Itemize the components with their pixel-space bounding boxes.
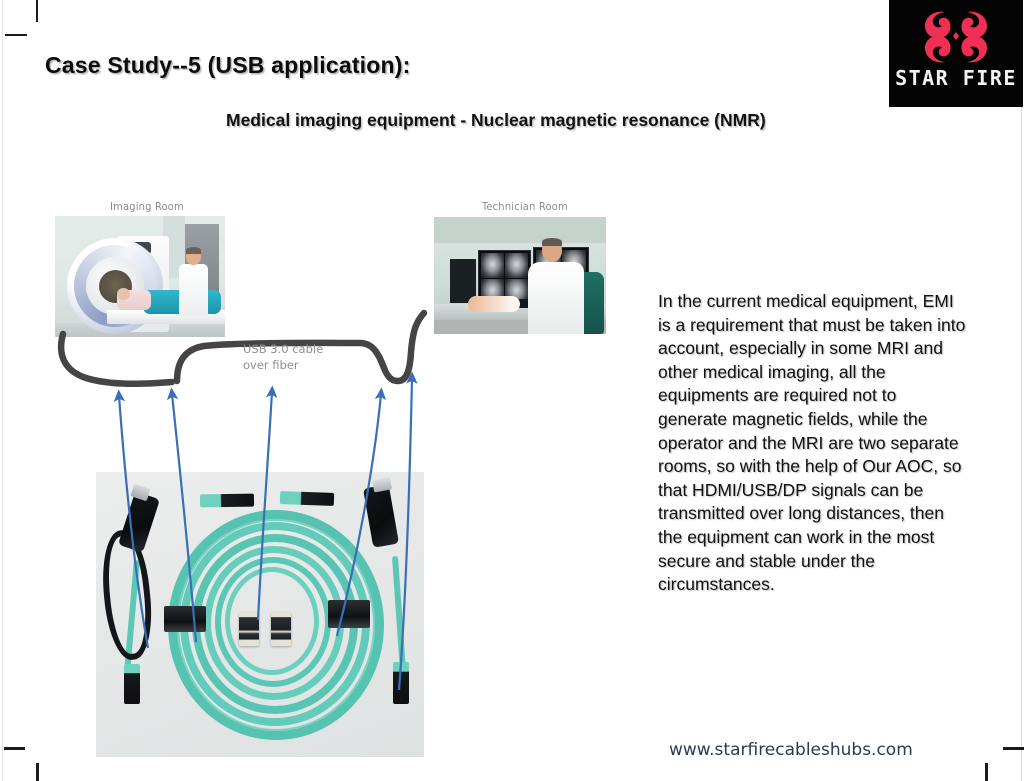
crop-mark-bottom-right-vertical: [985, 763, 988, 781]
brand-logo-text: STAR FIRE: [889, 66, 1023, 90]
imaging-room-photo: [55, 216, 225, 337]
technician-room-photo: [434, 217, 606, 334]
technician-room-label: Technician Room: [482, 200, 568, 213]
imaging-room-label: Imaging Room: [110, 200, 184, 213]
cable-annotation-line1: USB 3.0 cable: [243, 341, 323, 357]
slide-canvas: STAR FIRE Case Study--5 (USB application…: [0, 0, 1024, 781]
fiber-adapter-right: [271, 612, 291, 646]
footer-website-url: www.starfirecableshubs.com: [669, 740, 913, 760]
page-edge-left: [2, 0, 3, 781]
cable-annotation-line2: over fiber: [243, 357, 323, 373]
body-paragraph: In the current medical equipment, EMI is…: [658, 290, 970, 597]
cable-annotation: USB 3.0 cable over fiber: [243, 341, 323, 373]
four-petal-flower-icon: [919, 8, 993, 66]
crop-mark-top-left-vertical: [36, 0, 38, 22]
crop-mark-bottom-right-horizontal: [1003, 747, 1024, 750]
crop-mark-bottom-left-vertical: [36, 763, 39, 781]
crop-mark-top-left-horizontal: [5, 34, 27, 36]
fiber-adapter-left: [239, 612, 259, 646]
page-title: Case Study--5 (USB application):: [45, 52, 411, 79]
crop-mark-bottom-left-horizontal: [4, 747, 25, 750]
page-edge-right: [1021, 0, 1022, 781]
page-subtitle: Medical imaging equipment - Nuclear magn…: [226, 110, 766, 131]
brand-logo: STAR FIRE: [889, 0, 1023, 107]
product-photo: [96, 472, 424, 757]
